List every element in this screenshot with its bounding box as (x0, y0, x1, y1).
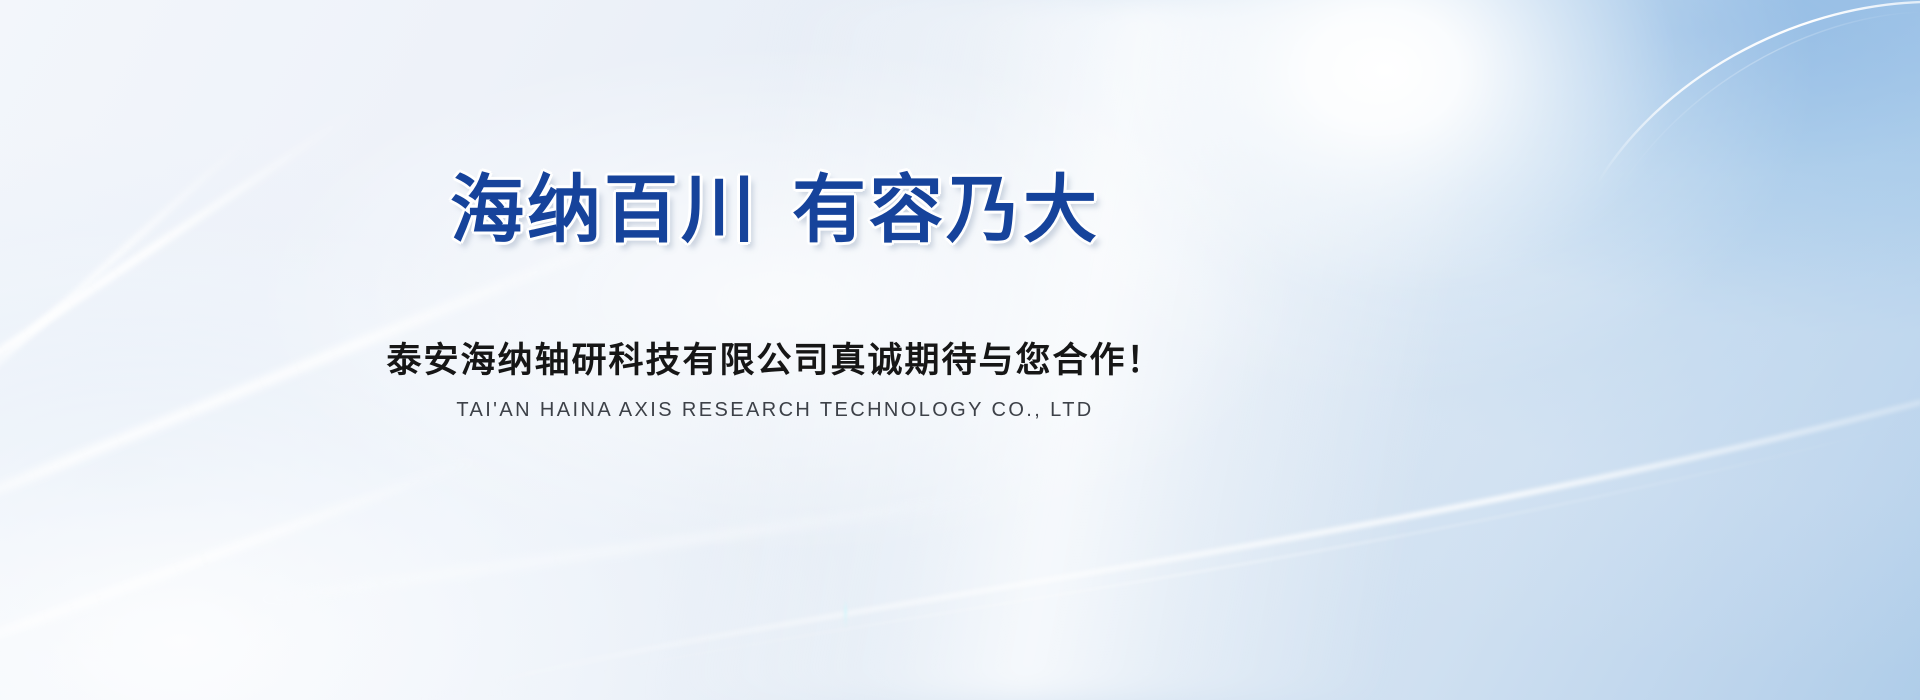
headline-phrase-one: 海纳百川 (450, 167, 758, 253)
company-name-english: TAI'AN HAINA AXIS RESEARCH TECHNOLOGY CO… (456, 399, 1093, 422)
banner-headline: 海纳百川有容乃大 (450, 172, 1100, 250)
banner-content: 海纳百川有容乃大 泰安海纳轴研科技有限公司真诚期待与您合作！ TAI'AN HA… (0, 0, 1550, 700)
headline-phrase-two: 有容乃大 (792, 167, 1100, 253)
banner-tagline: 泰安海纳轴研科技有限公司真诚期待与您合作！ (386, 332, 1163, 383)
hero-banner: 海纳百川有容乃大 泰安海纳轴研科技有限公司真诚期待与您合作！ TAI'AN HA… (0, 0, 1920, 700)
